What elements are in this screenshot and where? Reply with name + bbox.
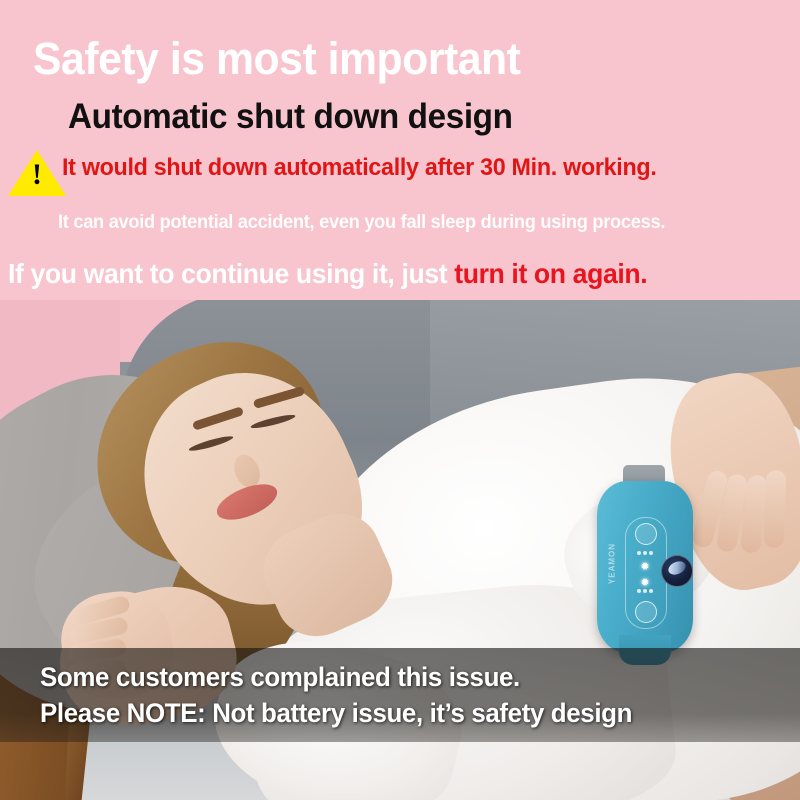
footer-line-2: Please NOTE: Not battery issue, it’s saf… [40,700,632,727]
device-brand-label: YEAMON [608,535,617,593]
device-indicator-dots-bottom [637,589,653,594]
product-safety-banner: ✹ ✹ YEAMON Safety is most important Auto… [0,0,800,800]
device-star-icon-top: ✹ [639,561,651,573]
header-text-panel: Safety is most important Automatic shut … [0,0,800,300]
warning-triangle-icon: ! [8,150,66,196]
restart-instruction: If you want to continue using it, just t… [8,260,647,288]
exclamation-mark: ! [8,160,66,190]
warning-message: It would shut down automatically after 3… [62,156,657,180]
warning-row: ! It would shut down automatically after… [8,150,798,196]
heating-pad-device: ✹ ✹ YEAMON [597,477,693,667]
restart-instruction-highlight: turn it on again. [454,258,647,289]
device-body: ✹ ✹ YEAMON [597,481,693,653]
device-lens-icon [661,555,693,587]
feature-subtitle: Automatic shut down design [68,99,513,134]
device-star-icon-bottom: ✹ [639,577,651,589]
safety-note: It can avoid potential accident, even yo… [58,213,665,232]
restart-instruction-prefix: If you want to continue using it, just [8,258,454,289]
device-indicator-dots-top [637,551,653,556]
device-mode-button[interactable] [635,601,657,623]
finger [764,470,787,549]
device-power-button[interactable] [635,523,657,545]
page-title: Safety is most important [33,36,520,81]
footer-line-1: Some customers complained this issue. [40,664,520,691]
